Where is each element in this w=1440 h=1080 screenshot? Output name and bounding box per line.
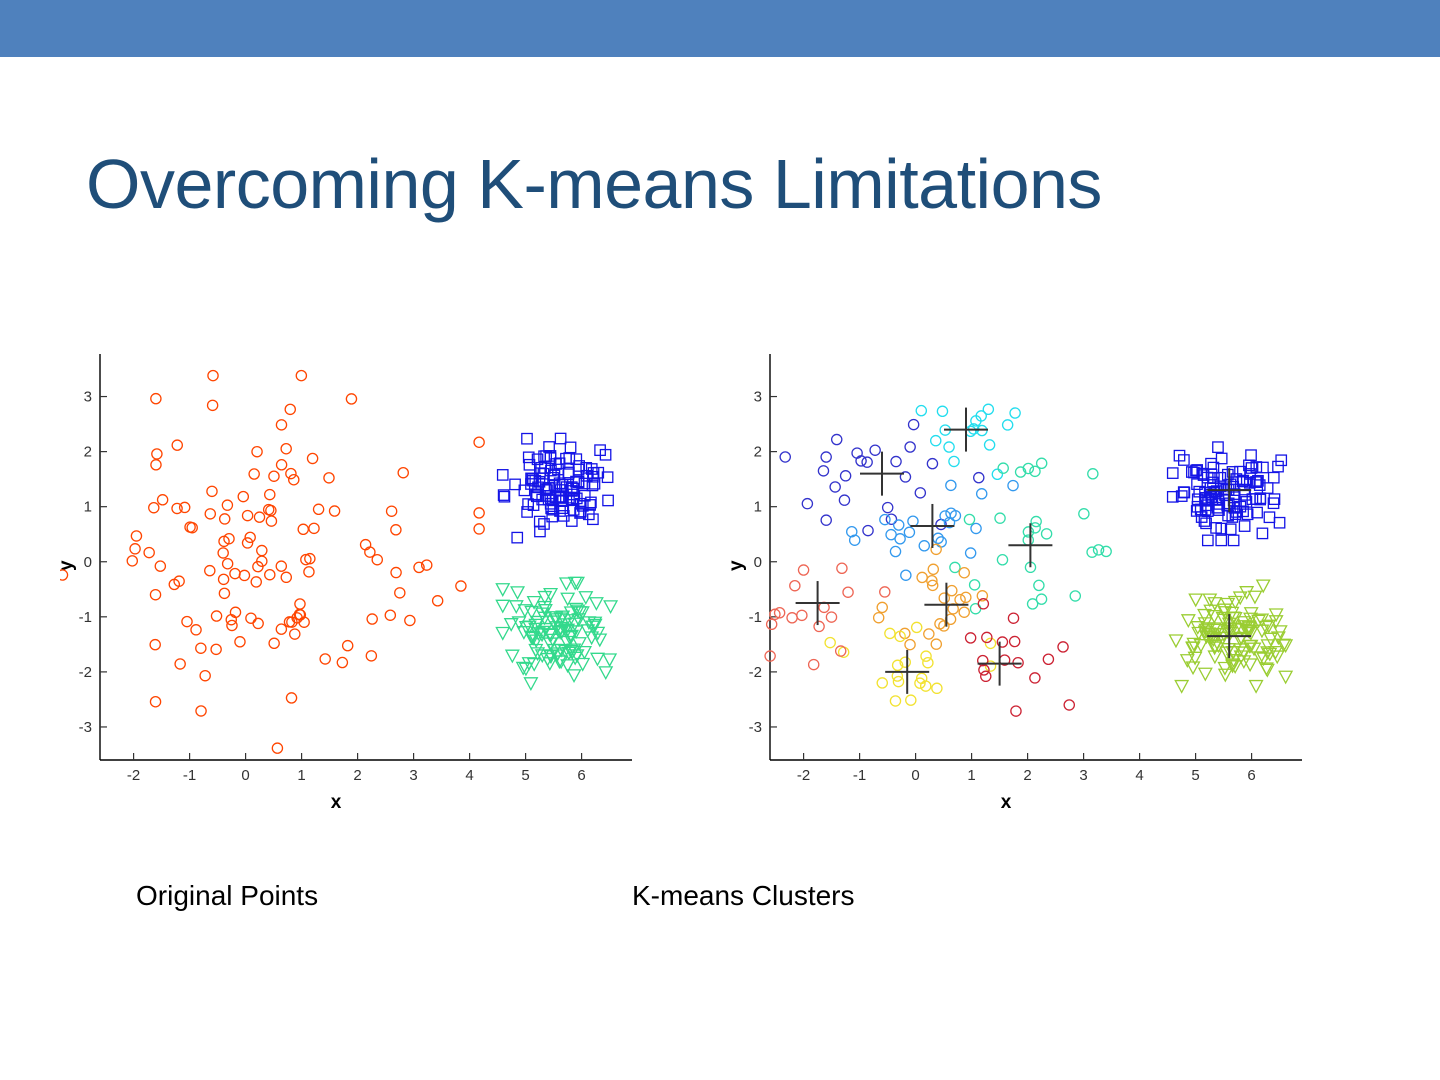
x-tick-label: -1 bbox=[183, 767, 196, 784]
centroid-crimson bbox=[978, 642, 1022, 686]
data-point bbox=[535, 516, 545, 526]
data-point bbox=[276, 561, 286, 571]
data-point bbox=[919, 541, 929, 551]
data-point bbox=[971, 523, 981, 533]
data-point bbox=[387, 506, 397, 516]
series-cluster-orange bbox=[874, 544, 988, 650]
data-point bbox=[1011, 706, 1021, 716]
data-point bbox=[591, 653, 604, 665]
data-point bbox=[1008, 613, 1018, 623]
data-point bbox=[207, 486, 217, 496]
data-point bbox=[218, 548, 228, 558]
data-point bbox=[144, 547, 154, 557]
data-point bbox=[985, 638, 995, 648]
y-tick-label: -2 bbox=[79, 664, 92, 681]
data-point bbox=[474, 508, 484, 518]
data-point bbox=[832, 434, 842, 444]
data-point bbox=[200, 671, 210, 681]
x-tick-label: 6 bbox=[1247, 767, 1255, 784]
data-point bbox=[208, 371, 218, 381]
data-point bbox=[309, 523, 319, 533]
data-point bbox=[905, 640, 915, 650]
data-point bbox=[158, 495, 168, 505]
data-point bbox=[313, 504, 323, 514]
data-point bbox=[150, 590, 160, 600]
data-point bbox=[151, 460, 161, 470]
data-point bbox=[496, 600, 509, 612]
data-point bbox=[343, 641, 353, 651]
data-point bbox=[787, 613, 797, 623]
data-point bbox=[915, 488, 925, 498]
data-point bbox=[883, 502, 893, 512]
data-point bbox=[917, 572, 927, 582]
data-point bbox=[512, 532, 522, 542]
series-dense-triangle-cluster bbox=[496, 577, 617, 689]
data-point bbox=[1042, 529, 1052, 539]
data-point bbox=[885, 628, 895, 638]
data-point bbox=[223, 559, 233, 569]
data-point bbox=[1213, 442, 1223, 452]
data-point bbox=[886, 530, 896, 540]
data-point bbox=[211, 644, 221, 654]
data-point bbox=[950, 562, 960, 572]
data-point bbox=[571, 577, 584, 589]
data-point bbox=[590, 598, 603, 610]
data-point bbox=[821, 452, 831, 462]
data-point bbox=[155, 561, 165, 571]
x-axis-title: x bbox=[1001, 792, 1012, 813]
data-point bbox=[992, 469, 1002, 479]
y-tick-label: 3 bbox=[754, 389, 762, 406]
x-tick-label: 6 bbox=[577, 767, 585, 784]
data-point bbox=[1087, 547, 1097, 557]
data-point bbox=[862, 457, 872, 467]
data-point bbox=[1228, 535, 1238, 545]
data-point bbox=[219, 588, 229, 598]
data-point bbox=[276, 420, 286, 430]
series-cluster-crimson bbox=[966, 599, 1075, 716]
data-point bbox=[1261, 664, 1274, 676]
data-point bbox=[286, 693, 296, 703]
data-point bbox=[474, 524, 484, 534]
data-point bbox=[524, 678, 537, 690]
data-point bbox=[814, 621, 824, 631]
caption-kmeans-clusters: K-means Clusters bbox=[632, 880, 855, 912]
data-point bbox=[227, 620, 237, 630]
data-point bbox=[586, 497, 596, 507]
data-point bbox=[959, 568, 969, 578]
data-point bbox=[205, 509, 215, 519]
data-point bbox=[1246, 450, 1256, 460]
data-point bbox=[909, 419, 919, 429]
data-point bbox=[405, 615, 415, 625]
data-point bbox=[981, 671, 991, 681]
page-title: Overcoming K-means Limitations bbox=[86, 143, 1356, 225]
x-tick-label: 3 bbox=[1079, 767, 1087, 784]
data-point bbox=[1034, 580, 1044, 590]
data-point bbox=[496, 628, 509, 640]
data-point bbox=[1279, 671, 1292, 683]
data-point bbox=[1008, 480, 1018, 490]
data-point bbox=[890, 546, 900, 556]
data-point bbox=[802, 499, 812, 509]
chart-kmeans-clusters: -2-10123456-3-2-10123xy bbox=[730, 340, 1320, 840]
data-point bbox=[304, 567, 314, 577]
data-point bbox=[809, 659, 819, 669]
data-point bbox=[1170, 635, 1183, 647]
data-point bbox=[568, 670, 581, 682]
data-point bbox=[1010, 408, 1020, 418]
data-point bbox=[944, 442, 954, 452]
centroid-aquamarine bbox=[1008, 523, 1052, 567]
data-point bbox=[1257, 528, 1267, 538]
x-tick-label: 0 bbox=[911, 767, 919, 784]
data-point bbox=[921, 681, 931, 691]
data-point bbox=[276, 624, 286, 634]
data-point bbox=[985, 440, 995, 450]
data-point bbox=[265, 489, 275, 499]
data-point bbox=[329, 506, 339, 516]
data-point bbox=[257, 545, 267, 555]
data-point bbox=[970, 604, 980, 614]
data-point bbox=[391, 525, 401, 535]
y-tick-label: 2 bbox=[84, 444, 92, 461]
x-tick-label: 0 bbox=[241, 767, 249, 784]
data-point bbox=[290, 629, 300, 639]
data-point bbox=[251, 577, 261, 587]
data-point bbox=[599, 667, 612, 679]
data-point bbox=[149, 503, 159, 513]
data-point bbox=[395, 588, 405, 598]
centroid-darkblue bbox=[860, 452, 904, 496]
data-point bbox=[346, 394, 356, 404]
data-point bbox=[456, 581, 466, 591]
data-point bbox=[1093, 545, 1103, 555]
data-point bbox=[1174, 450, 1184, 460]
data-point bbox=[150, 697, 160, 707]
data-point bbox=[1199, 668, 1212, 680]
data-point bbox=[949, 456, 959, 466]
data-point bbox=[1257, 580, 1270, 592]
y-tick-label: 0 bbox=[84, 554, 92, 571]
series-cluster-salmon bbox=[765, 563, 890, 670]
data-point bbox=[1219, 669, 1232, 681]
data-point bbox=[839, 495, 849, 505]
data-point bbox=[474, 437, 484, 447]
data-point bbox=[365, 547, 375, 557]
data-point bbox=[964, 514, 974, 524]
data-point bbox=[544, 589, 557, 601]
data-point bbox=[1028, 599, 1038, 609]
data-point bbox=[880, 587, 890, 597]
x-tick-label: 2 bbox=[353, 767, 361, 784]
x-tick-label: 4 bbox=[1135, 767, 1143, 784]
data-point bbox=[927, 459, 937, 469]
data-point bbox=[1251, 494, 1261, 504]
data-point bbox=[367, 614, 377, 624]
data-point bbox=[841, 471, 851, 481]
data-point bbox=[560, 578, 573, 590]
data-point bbox=[191, 625, 201, 635]
top-banner bbox=[0, 0, 1440, 57]
data-point bbox=[565, 442, 575, 452]
y-tick-label: 1 bbox=[754, 499, 762, 516]
data-point bbox=[797, 610, 807, 620]
data-point bbox=[296, 371, 306, 381]
data-point bbox=[150, 640, 160, 650]
data-point bbox=[1203, 535, 1213, 545]
data-point bbox=[998, 463, 1008, 473]
data-point bbox=[1030, 673, 1040, 683]
centroid-lightblue bbox=[910, 504, 954, 548]
data-point bbox=[320, 654, 330, 664]
data-point bbox=[246, 613, 256, 623]
data-point bbox=[130, 544, 140, 554]
y-tick-label: 0 bbox=[754, 554, 762, 571]
data-point bbox=[852, 448, 862, 458]
data-point bbox=[912, 622, 922, 632]
data-point bbox=[205, 566, 215, 576]
data-point bbox=[249, 469, 259, 479]
y-tick-label: 2 bbox=[754, 444, 762, 461]
data-point bbox=[977, 489, 987, 499]
data-point bbox=[496, 584, 509, 596]
data-point bbox=[905, 442, 915, 452]
data-point bbox=[254, 512, 264, 522]
data-point bbox=[555, 433, 565, 443]
data-point bbox=[337, 657, 347, 667]
data-point bbox=[175, 659, 185, 669]
data-point bbox=[281, 572, 291, 582]
x-tick-label: 2 bbox=[1023, 767, 1031, 784]
data-point bbox=[955, 595, 965, 605]
y-tick-label: -3 bbox=[79, 719, 92, 736]
data-point bbox=[276, 460, 286, 470]
data-point bbox=[385, 610, 395, 620]
data-point bbox=[1179, 487, 1189, 497]
data-point bbox=[1181, 655, 1194, 667]
data-point bbox=[966, 426, 976, 436]
data-point bbox=[1250, 681, 1263, 693]
data-point bbox=[924, 629, 934, 639]
data-point bbox=[196, 643, 206, 653]
data-point bbox=[1258, 462, 1268, 472]
caption-original-points: Original Points bbox=[136, 880, 318, 912]
data-point bbox=[932, 683, 942, 693]
data-point bbox=[937, 406, 947, 416]
data-point bbox=[1058, 642, 1068, 652]
data-point bbox=[798, 565, 808, 575]
data-point bbox=[997, 555, 1007, 565]
scatter-plot-kmeans: -2-10123456-3-2-10123xy bbox=[730, 340, 1320, 840]
x-tick-label: -1 bbox=[853, 767, 866, 784]
data-point bbox=[974, 473, 984, 483]
data-point bbox=[1043, 654, 1053, 664]
y-tick-label: 3 bbox=[84, 389, 92, 406]
data-point bbox=[433, 596, 443, 606]
data-point bbox=[1189, 594, 1202, 606]
data-point bbox=[152, 449, 162, 459]
data-point bbox=[522, 434, 532, 444]
data-point bbox=[923, 658, 933, 668]
y-axis-title: y bbox=[730, 560, 747, 571]
data-point bbox=[1249, 591, 1262, 603]
data-point bbox=[825, 638, 835, 648]
data-point bbox=[1262, 483, 1272, 493]
x-tick-label: 5 bbox=[1191, 767, 1199, 784]
y-tick-label: -1 bbox=[749, 609, 762, 626]
data-point bbox=[151, 394, 161, 404]
data-point bbox=[890, 696, 900, 706]
data-point bbox=[569, 577, 582, 589]
series-cluster-blue-squares bbox=[1168, 442, 1287, 546]
data-point bbox=[830, 482, 840, 492]
data-point bbox=[780, 452, 790, 462]
data-point bbox=[826, 612, 836, 622]
series-dense-square-cluster bbox=[498, 433, 614, 542]
data-point bbox=[874, 613, 884, 623]
data-point bbox=[230, 569, 240, 579]
data-point bbox=[931, 639, 941, 649]
data-point bbox=[295, 599, 305, 609]
data-point bbox=[1273, 461, 1283, 471]
data-point bbox=[298, 524, 308, 534]
data-point bbox=[1269, 472, 1279, 482]
data-point bbox=[877, 678, 887, 688]
data-point bbox=[1088, 469, 1098, 479]
data-point bbox=[603, 495, 613, 505]
data-point bbox=[877, 602, 887, 612]
data-point bbox=[908, 516, 918, 526]
data-point bbox=[222, 500, 232, 510]
data-point bbox=[970, 580, 980, 590]
data-point bbox=[1168, 468, 1178, 478]
data-point bbox=[127, 556, 137, 566]
data-point bbox=[391, 567, 401, 577]
x-tick-label: 5 bbox=[521, 767, 529, 784]
data-point bbox=[208, 400, 218, 410]
data-point bbox=[1264, 512, 1274, 522]
data-point bbox=[901, 570, 911, 580]
data-point bbox=[995, 513, 1005, 523]
data-point bbox=[252, 447, 262, 457]
data-point bbox=[182, 617, 192, 627]
data-point bbox=[265, 570, 275, 580]
data-point bbox=[921, 651, 931, 661]
data-point bbox=[1031, 516, 1041, 526]
data-point bbox=[366, 651, 376, 661]
data-point bbox=[894, 520, 904, 530]
centroid-salmon bbox=[796, 581, 840, 625]
data-point bbox=[269, 471, 279, 481]
data-point bbox=[285, 404, 295, 414]
data-point bbox=[1175, 681, 1188, 693]
data-point bbox=[242, 510, 252, 520]
data-point bbox=[870, 445, 880, 455]
data-point bbox=[1079, 509, 1089, 519]
data-point bbox=[235, 637, 245, 647]
x-tick-label: -2 bbox=[797, 767, 810, 784]
data-point bbox=[272, 743, 282, 753]
data-point bbox=[307, 453, 317, 463]
x-tick-label: 1 bbox=[297, 767, 305, 784]
data-point bbox=[906, 695, 916, 705]
scatter-plot-original: -2-10123456-3-2-10123xy bbox=[60, 340, 650, 840]
slide-canvas: Overcoming K-means Limitations -2-101234… bbox=[0, 0, 1440, 1080]
data-point bbox=[269, 638, 279, 648]
data-point bbox=[286, 469, 296, 479]
data-point bbox=[880, 515, 890, 525]
series-diffuse-cloud bbox=[60, 371, 484, 754]
data-point bbox=[931, 436, 941, 446]
data-point bbox=[172, 503, 182, 513]
data-point bbox=[1010, 636, 1020, 646]
data-point bbox=[891, 456, 901, 466]
data-point bbox=[1070, 591, 1080, 601]
data-point bbox=[361, 540, 371, 550]
data-point bbox=[219, 574, 229, 584]
data-point bbox=[511, 587, 524, 599]
data-point bbox=[821, 515, 831, 525]
data-point bbox=[1064, 700, 1074, 710]
data-point bbox=[266, 516, 276, 526]
data-point bbox=[535, 526, 545, 536]
data-point bbox=[211, 611, 221, 621]
data-point bbox=[238, 491, 248, 501]
y-tick-label: -1 bbox=[79, 609, 92, 626]
data-point bbox=[131, 531, 141, 541]
data-point bbox=[928, 564, 938, 574]
data-point bbox=[324, 473, 334, 483]
data-point bbox=[1216, 535, 1226, 545]
centroid-cyan bbox=[944, 408, 988, 452]
data-point bbox=[253, 618, 263, 628]
y-tick-label: -2 bbox=[749, 664, 762, 681]
data-point bbox=[818, 466, 828, 476]
data-point bbox=[604, 601, 617, 613]
data-point bbox=[966, 633, 976, 643]
data-point bbox=[843, 587, 853, 597]
data-point bbox=[959, 607, 969, 617]
data-point bbox=[961, 592, 971, 602]
data-point bbox=[863, 525, 873, 535]
data-point bbox=[904, 527, 914, 537]
data-point bbox=[947, 586, 957, 596]
x-axis-title: x bbox=[331, 792, 342, 813]
data-point bbox=[603, 654, 616, 666]
x-tick-label: 3 bbox=[409, 767, 417, 784]
data-point bbox=[510, 601, 523, 613]
data-point bbox=[506, 650, 519, 662]
x-tick-label: 1 bbox=[967, 767, 975, 784]
data-point bbox=[398, 468, 408, 478]
data-point bbox=[1239, 521, 1249, 531]
x-tick-label: 4 bbox=[465, 767, 473, 784]
data-point bbox=[916, 406, 926, 416]
data-point bbox=[1030, 466, 1040, 476]
data-point bbox=[946, 480, 956, 490]
data-point bbox=[1179, 455, 1189, 465]
data-point bbox=[498, 470, 508, 480]
data-point bbox=[1003, 420, 1013, 430]
data-point bbox=[172, 440, 182, 450]
data-point bbox=[1274, 518, 1284, 528]
x-tick-label: -2 bbox=[127, 767, 140, 784]
data-point bbox=[837, 563, 847, 573]
data-point bbox=[239, 570, 249, 580]
data-point bbox=[505, 619, 518, 631]
data-point bbox=[966, 548, 976, 558]
